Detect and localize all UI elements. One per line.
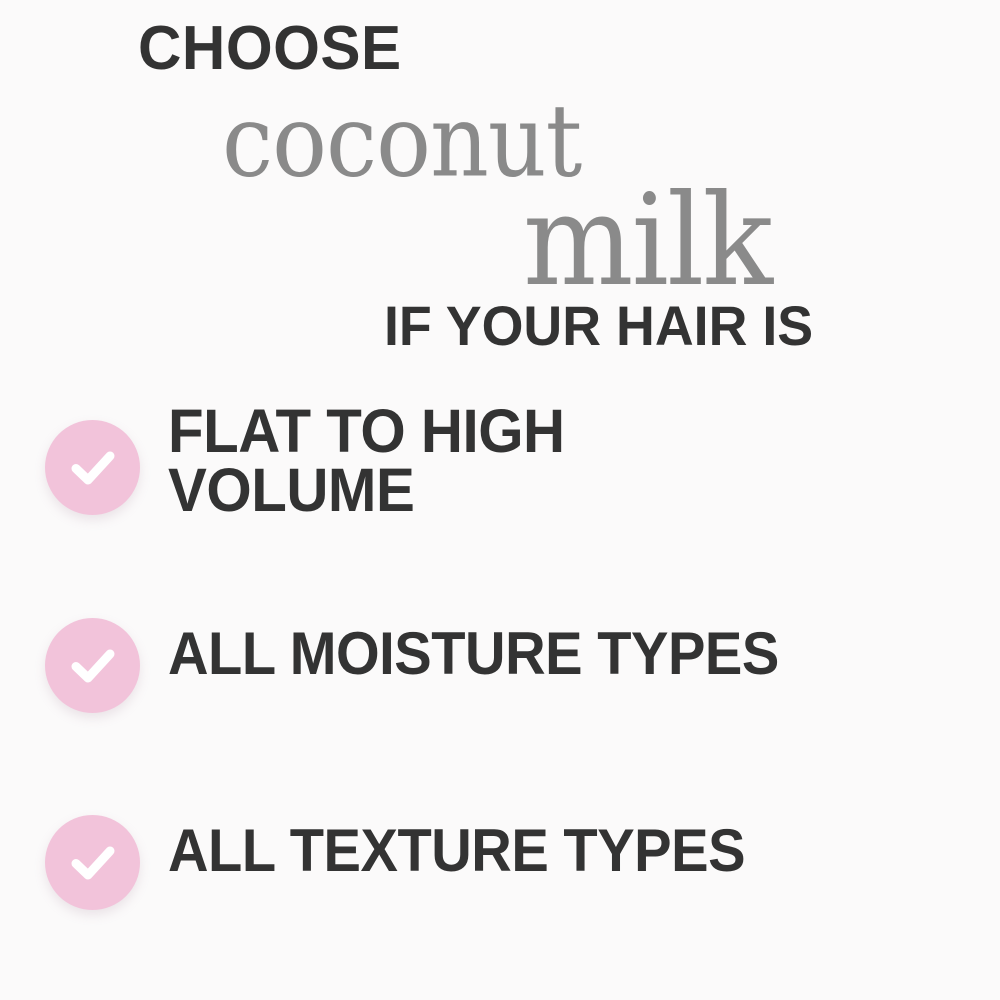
check-icon [65,440,121,496]
headline-line-if-your-hair-is: IF YOUR HAIR IS [384,298,813,354]
headline-block: CHOOSE coconut milk IF YOUR HAIR IS [0,0,1000,380]
list-item: ALL MOISTURE TYPES [0,593,1000,713]
list-item-label: ALL MOISTURE TYPES [168,593,946,683]
check-badge [45,420,140,515]
headline-line-milk: milk [523,178,771,304]
check-badge [45,618,140,713]
promo-graphic: CHOOSE coconut milk IF YOUR HAIR IS FLAT… [0,0,1000,1000]
list-item: ALL TEXTURE TYPES [0,790,1000,910]
list-item-label: ALL TEXTURE TYPES [168,790,946,880]
list-item-label: FLAT TO HIGH VOLUME [168,395,963,520]
check-badge [45,815,140,910]
check-icon [65,835,121,891]
list-item: FLAT TO HIGH VOLUME [0,395,1000,520]
headline-line-choose: CHOOSE [138,18,402,80]
check-icon [65,638,121,694]
